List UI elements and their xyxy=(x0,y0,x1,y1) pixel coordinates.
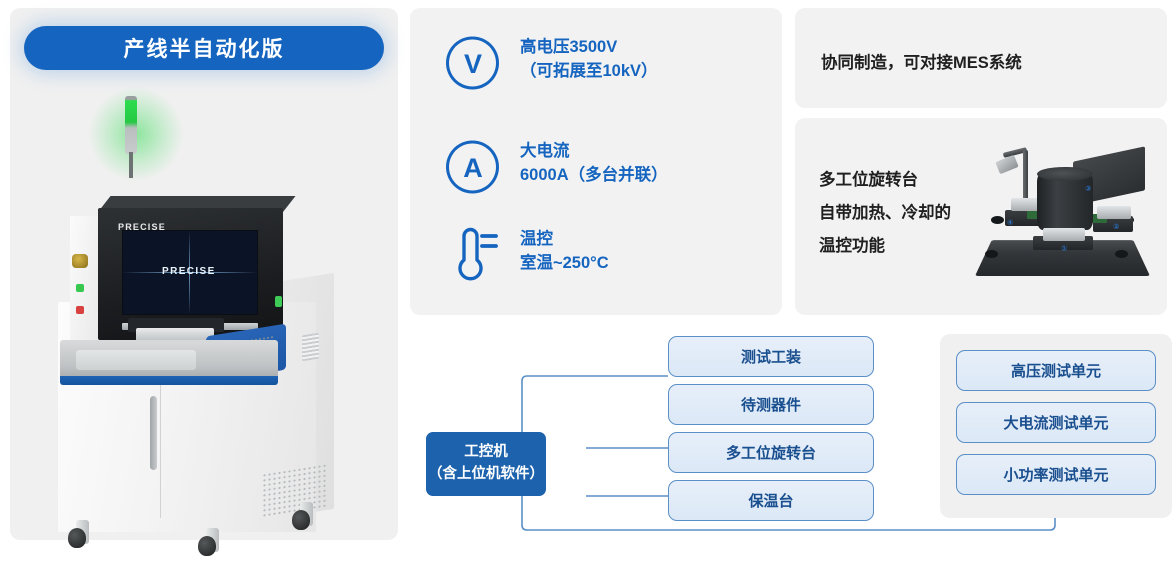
spec-text-current: 大电流 6000A（多台并联） xyxy=(520,138,668,188)
rotary-line-2: 自带加热、冷却的 xyxy=(819,197,951,230)
rotary-line-1: 多工位旋转台 xyxy=(819,164,951,197)
node-industrial-pc[interactable]: 工控机 （含上位机软件） xyxy=(426,432,546,496)
station-fixture-1 xyxy=(1043,228,1085,241)
indicator-red-icon xyxy=(76,306,84,314)
node-label: 大电流测试单元 xyxy=(1003,412,1108,433)
voltmeter-icon: V xyxy=(444,34,502,92)
station-fixture-2 xyxy=(1097,206,1131,219)
callout-1: ① xyxy=(1061,244,1067,253)
spec-line1: 温控 xyxy=(520,228,609,252)
node-rotary-table[interactable]: 多工位旋转台 xyxy=(668,432,874,473)
node-test-fixture[interactable]: 测试工装 xyxy=(668,336,874,377)
svg-text:V: V xyxy=(464,49,482,79)
machine-illustration: PRECISE PRECISE xyxy=(10,78,398,538)
spec-line1: 大电流 xyxy=(520,140,668,164)
cabinet-vent-b xyxy=(302,333,319,362)
rotary-table-photo: ① ② ③ ④ xyxy=(965,132,1165,302)
node-label: 小功率测试单元 xyxy=(1003,464,1108,485)
node-high-current-unit[interactable]: 大电流测试单元 xyxy=(956,402,1156,443)
cabinet-door-handle[interactable] xyxy=(150,396,157,470)
test-unit-group: 高压测试单元 大电流测试单元 小功率测试单元 xyxy=(940,334,1172,518)
node-label: 高压测试单元 xyxy=(1011,360,1101,381)
node-label: 待测器件 xyxy=(741,394,801,415)
indicator-green-icon xyxy=(76,284,84,292)
title-banner: 产线半自动化版 xyxy=(24,26,384,70)
caster-wheel-2 xyxy=(198,526,220,556)
ammeter-icon: A xyxy=(444,138,502,196)
indicator-side-icon xyxy=(275,296,282,307)
mes-panel-text: 协同制造，可对接MES系统 xyxy=(821,49,1022,73)
machine-front-tray-inset xyxy=(76,350,196,370)
base-hole-1 xyxy=(985,250,998,258)
machine-accent-strip xyxy=(60,376,278,385)
specifications-panel: V 高电压3500V （可拓展至10kV） A 大电流 6000A（多台并联） xyxy=(410,8,782,315)
node-high-voltage-unit[interactable]: 高压测试单元 xyxy=(956,350,1156,391)
spec-row-voltage: V 高电压3500V （可拓展至10kV） xyxy=(444,34,658,92)
node-label: 保温台 xyxy=(748,490,793,511)
product-photo-panel: 产线半自动化版 PRE xyxy=(10,8,398,540)
caster-wheel-3 xyxy=(292,500,314,530)
camera-arm-vertical xyxy=(1023,150,1028,202)
rotary-line-3: 温控功能 xyxy=(819,230,951,263)
node-label: 多工位旋转台 xyxy=(726,442,816,463)
spec-line2: 室温~250°C xyxy=(520,252,609,276)
mes-panel: 协同制造，可对接MES系统 xyxy=(795,8,1167,108)
node-thermal-station[interactable]: 保温台 xyxy=(668,480,874,521)
callout-3: ③ xyxy=(1085,184,1091,193)
rotary-table-panel: 多工位旋转台 自带加热、冷却的 温控功能 ① ② xyxy=(795,118,1167,315)
base-hole-3 xyxy=(991,216,1004,224)
caster-wheel-1 xyxy=(68,518,90,548)
node-main-line2: （含上位机软件） xyxy=(428,464,544,486)
screen-brand-label: PRECISE xyxy=(162,266,216,277)
system-architecture-diagram: 工控机 （含上位机软件） 测试工装 待测器件 多工位旋转台 保温台 高压测试单元… xyxy=(410,320,1176,561)
spec-row-current: A 大电流 6000A（多台并联） xyxy=(444,138,668,196)
spec-line1: 高电压3500V xyxy=(520,36,658,60)
tower-lamp-icon xyxy=(125,96,137,154)
thermometer-icon xyxy=(444,226,502,284)
emergency-stop-button[interactable] xyxy=(72,254,88,268)
spec-line2: （可拓展至10kV） xyxy=(520,60,658,84)
tower-lamp-post xyxy=(129,152,133,178)
callout-4: ④ xyxy=(1007,218,1013,227)
spec-line2: 6000A（多台并联） xyxy=(520,164,668,188)
node-main-line1: 工控机 xyxy=(464,442,508,464)
camera-head-icon xyxy=(995,155,1018,175)
node-label: 测试工装 xyxy=(741,346,801,367)
node-low-power-unit[interactable]: 小功率测试单元 xyxy=(956,454,1156,495)
rotary-table-text: 多工位旋转台 自带加热、冷却的 温控功能 xyxy=(819,164,951,263)
spec-row-temperature: 温控 室温~250°C xyxy=(444,226,609,284)
node-device-under-test[interactable]: 待测器件 xyxy=(668,384,874,425)
svg-text:A: A xyxy=(463,153,483,183)
base-hole-2 xyxy=(1115,250,1128,258)
spec-text-temperature: 温控 室温~250°C xyxy=(520,226,609,276)
spec-text-voltage: 高电压3500V （可拓展至10kV） xyxy=(520,34,658,84)
title-banner-label: 产线半自动化版 xyxy=(124,33,285,63)
callout-2: ② xyxy=(1113,222,1119,231)
rotary-turntable-top xyxy=(1037,167,1093,181)
infographic-root: 产线半自动化版 PRE xyxy=(0,0,1176,561)
